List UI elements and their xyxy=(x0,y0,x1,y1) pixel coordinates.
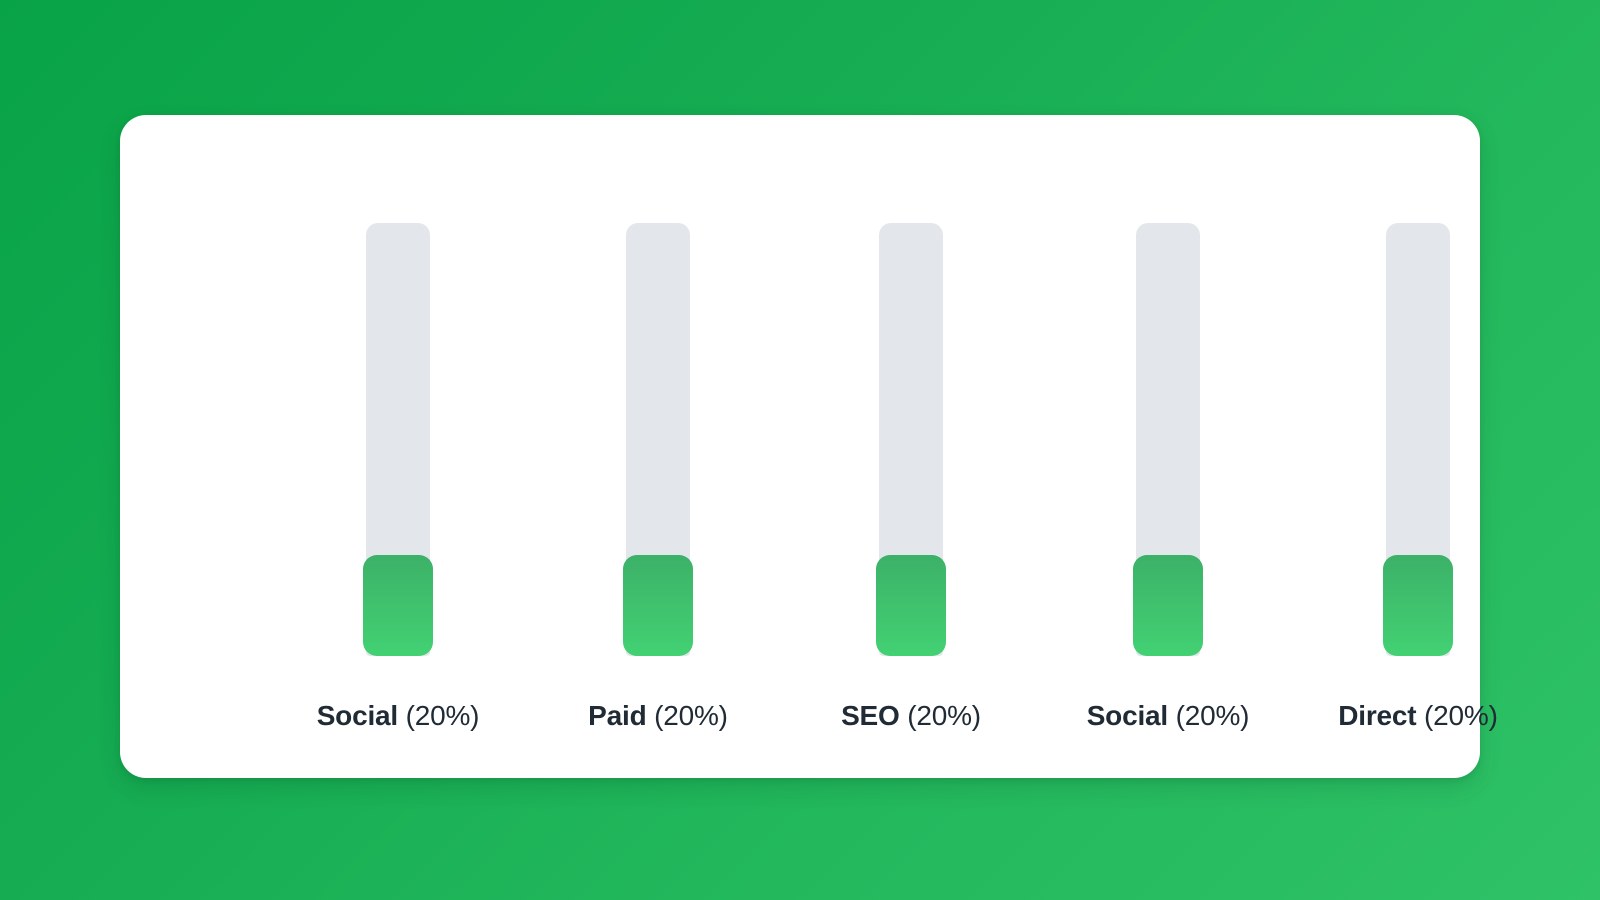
bar-label: Social (20%) xyxy=(1087,702,1250,730)
bar-label-name: Social xyxy=(1087,700,1168,731)
bar-fill[interactable] xyxy=(623,555,693,656)
bar-label-name: Direct xyxy=(1338,700,1416,731)
bar-gauge[interactable] xyxy=(1133,223,1203,656)
bar-label: Direct (20%) xyxy=(1338,702,1497,730)
bar-fill[interactable] xyxy=(1383,555,1453,656)
bar-label-value: (20%) xyxy=(654,700,728,731)
bar-group[interactable]: Social (20%) xyxy=(298,223,498,730)
bar-label-name: Social xyxy=(317,700,398,731)
bar-gauge[interactable] xyxy=(623,223,693,656)
bar-label-name: SEO xyxy=(841,700,900,731)
bar-label-value: (20%) xyxy=(907,700,981,731)
bar-label-value: (20%) xyxy=(1176,700,1250,731)
bar-chart: Social (20%) Paid (20%) xyxy=(120,115,1480,778)
bar-fill[interactable] xyxy=(363,555,433,656)
bar-label: Paid (20%) xyxy=(588,702,728,730)
bar-label-name: Paid xyxy=(588,700,646,731)
bar-gauge[interactable] xyxy=(363,223,433,656)
screen: Social (20%) Paid (20%) xyxy=(0,0,1600,900)
bar-group[interactable]: Paid (20%) xyxy=(558,223,758,730)
bar-label-value: (20%) xyxy=(1424,700,1498,731)
bar-group[interactable]: SEO (20%) xyxy=(811,223,1011,730)
bar-gauge[interactable] xyxy=(1383,223,1453,656)
bar-fill[interactable] xyxy=(1133,555,1203,656)
bar-fill[interactable] xyxy=(876,555,946,656)
bar-label-value: (20%) xyxy=(406,700,480,731)
bar-label: Social (20%) xyxy=(317,702,480,730)
bar-gauge[interactable] xyxy=(876,223,946,656)
bar-label: SEO (20%) xyxy=(841,702,981,730)
chart-card: Social (20%) Paid (20%) xyxy=(120,115,1480,778)
bar-group[interactable]: Direct (20%) xyxy=(1318,223,1518,730)
bar-group[interactable]: Social (20%) xyxy=(1068,223,1268,730)
